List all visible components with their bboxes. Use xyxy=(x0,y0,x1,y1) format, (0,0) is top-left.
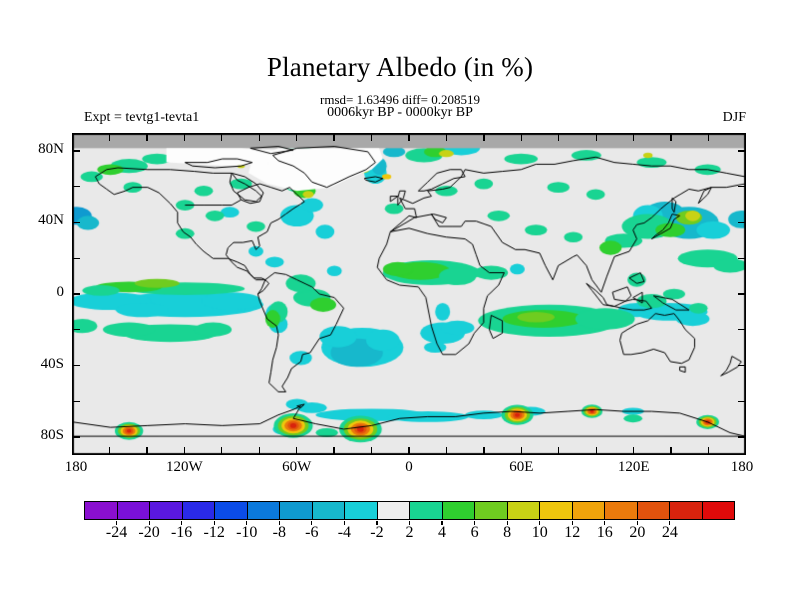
figure-root: Planetary Albedo (in %) rmsd= 1.63496 di… xyxy=(0,0,800,600)
colorbar-tick-label: 6 xyxy=(471,524,479,542)
colorbar-swatch xyxy=(508,502,541,519)
lon-tick xyxy=(483,133,484,141)
colorbar-tick-label: 16 xyxy=(597,524,613,542)
lon-tick xyxy=(633,133,634,141)
lon-tick xyxy=(596,447,597,455)
colorbar-swatch xyxy=(540,502,573,519)
experiment-label: Expt = tevtg1-tevta1 xyxy=(84,110,199,126)
lon-tick xyxy=(708,447,709,455)
lat-tick xyxy=(72,329,80,330)
lat-tick xyxy=(738,258,746,259)
colorbar-tick-label: 24 xyxy=(662,524,678,542)
lon-tick xyxy=(558,133,559,141)
colorbar-tick-label: -20 xyxy=(138,524,159,542)
lon-tick xyxy=(446,133,447,141)
lon-tick xyxy=(483,447,484,455)
lon-axis-label: 120E xyxy=(618,459,650,476)
lon-tick xyxy=(446,447,447,455)
colorbar-swatch xyxy=(345,502,378,519)
colorbar-tick-label: 20 xyxy=(629,524,645,542)
lon-axis-label: 60E xyxy=(509,459,533,476)
lat-tick xyxy=(738,222,746,223)
lat-tick xyxy=(72,186,80,187)
colorbar-swatch xyxy=(443,502,476,519)
lon-tick xyxy=(708,133,709,141)
lat-axis-label: 80S xyxy=(41,427,64,444)
lon-tick xyxy=(259,133,260,141)
lat-axis-label: 80N xyxy=(38,141,64,158)
colorbar-swatch xyxy=(475,502,508,519)
lon-tick xyxy=(371,447,372,455)
colorbar-tick-label: -4 xyxy=(338,524,351,542)
lon-tick xyxy=(109,133,110,141)
colorbar-swatch xyxy=(280,502,313,519)
colorbar-swatch xyxy=(85,502,118,519)
lon-tick xyxy=(184,447,185,455)
lon-axis-label: 120W xyxy=(166,459,203,476)
colorbar-tick-label: -16 xyxy=(171,524,192,542)
lon-tick xyxy=(146,133,147,141)
lon-axis-label: 60W xyxy=(282,459,311,476)
lon-tick xyxy=(221,447,222,455)
lat-axis-label: 0 xyxy=(57,284,65,301)
lat-tick xyxy=(72,293,80,294)
lon-tick xyxy=(596,133,597,141)
colorbar-swatch xyxy=(703,502,735,519)
lat-tick xyxy=(72,258,80,259)
lon-tick xyxy=(109,447,110,455)
colorbar-swatch xyxy=(605,502,638,519)
lat-axis-label: 40N xyxy=(38,212,64,229)
lat-tick xyxy=(738,436,746,437)
colorbar-tick-label: -6 xyxy=(305,524,318,542)
lon-tick xyxy=(670,447,671,455)
lat-tick xyxy=(72,365,80,366)
lon-tick xyxy=(296,133,297,141)
colorbar-tick-label: 12 xyxy=(564,524,580,542)
lat-tick xyxy=(738,293,746,294)
lon-tick xyxy=(259,447,260,455)
lon-tick xyxy=(333,133,334,141)
colorbar-swatch xyxy=(248,502,281,519)
lon-axis-label: 180 xyxy=(65,459,88,476)
lon-tick xyxy=(333,447,334,455)
colorbar-swatch xyxy=(183,502,216,519)
lon-axis-label: 180 xyxy=(731,459,754,476)
colorbar-swatch xyxy=(638,502,671,519)
colorbar-tick-label: -2 xyxy=(370,524,383,542)
lat-tick xyxy=(738,186,746,187)
map-plot-area xyxy=(72,133,746,455)
lon-axis-label: 0 xyxy=(405,459,413,476)
lon-tick xyxy=(371,133,372,141)
season-label: DJF xyxy=(723,110,746,126)
lat-tick xyxy=(72,401,80,402)
lat-tick xyxy=(72,436,80,437)
colorbar-swatch xyxy=(215,502,248,519)
colorbar-tick-label: -8 xyxy=(273,524,286,542)
colorbar-tick-label: 8 xyxy=(503,524,511,542)
lat-tick xyxy=(738,401,746,402)
colorbar-swatch xyxy=(150,502,183,519)
lat-tick xyxy=(72,222,80,223)
lat-tick xyxy=(738,329,746,330)
lon-tick xyxy=(521,133,522,141)
lon-tick xyxy=(221,133,222,141)
colorbar-tick-label: -24 xyxy=(106,524,127,542)
colorbar-swatch xyxy=(118,502,151,519)
colorbar-swatch xyxy=(378,502,411,519)
lat-tick xyxy=(72,150,80,151)
colorbar-tick-label: 2 xyxy=(406,524,414,542)
lon-tick xyxy=(558,447,559,455)
colorbar-swatch xyxy=(410,502,443,519)
colorbar-tick-labels: -24-20-16-12-10-8-6-4-224681012162024 xyxy=(84,521,735,545)
colorbar-tick-label: 10 xyxy=(532,524,548,542)
lon-tick xyxy=(184,133,185,141)
lon-tick xyxy=(521,447,522,455)
lon-tick xyxy=(670,133,671,141)
lat-tick xyxy=(738,365,746,366)
lon-tick xyxy=(296,447,297,455)
lat-tick xyxy=(738,150,746,151)
page-title: Planetary Albedo (in %) xyxy=(0,52,800,83)
lon-tick xyxy=(408,447,409,455)
colorbar-swatch xyxy=(670,502,703,519)
lon-tick xyxy=(146,447,147,455)
anomaly-map-canvas xyxy=(73,134,745,454)
lon-tick xyxy=(633,447,634,455)
lat-axis-label: 40S xyxy=(41,356,64,373)
colorbar xyxy=(84,501,735,520)
colorbar-tick-label: 4 xyxy=(438,524,446,542)
colorbar-tick-label: -10 xyxy=(236,524,257,542)
colorbar-tick-label: -12 xyxy=(204,524,225,542)
lon-tick xyxy=(408,133,409,141)
colorbar-swatch xyxy=(313,502,346,519)
colorbar-swatch xyxy=(573,502,606,519)
